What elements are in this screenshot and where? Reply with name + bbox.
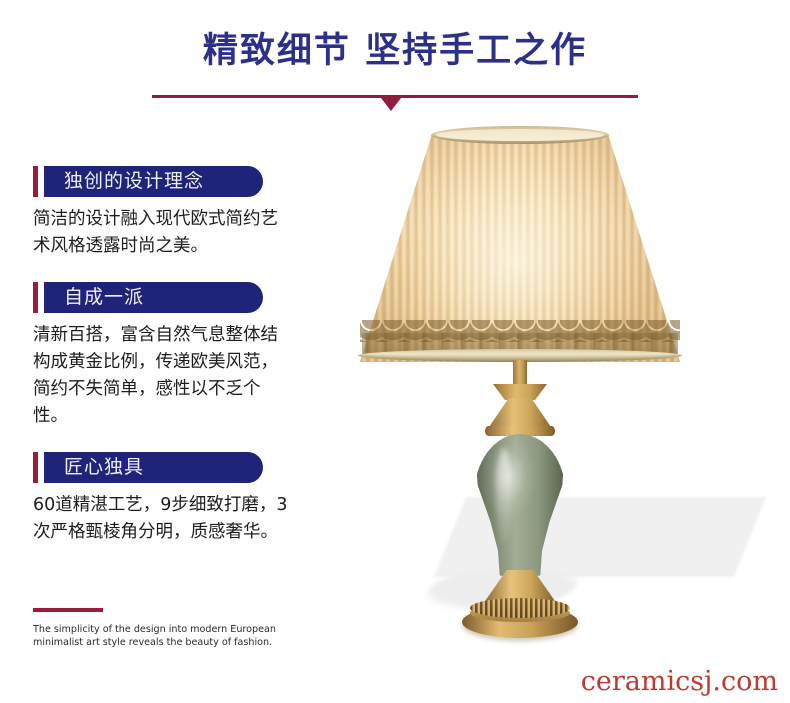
product-detail-page: 精致细节 坚持手工之作 独创的设计理念 简洁的设计融入现代欧式简约艺术风格透露时…	[0, 0, 790, 703]
feature-badge-label-1: 独创的设计理念	[64, 166, 204, 197]
down-arrow-icon	[381, 98, 401, 111]
footer-english-caption: The simplicity of the design into modern…	[33, 623, 323, 649]
lamp-ceramic-highlight	[496, 448, 512, 544]
feature-block-3: 匠心独具 60道精湛工艺，9步细致打磨，3次严格甄棱角分明，质感奢华。	[33, 452, 308, 546]
feature-badge-2: 自成一派	[33, 282, 263, 313]
badge-accent-bar	[33, 452, 38, 483]
feature-body-3: 60道精湛工艺，9步细致打磨，3次严格甄棱角分明，质感奢华。	[33, 492, 295, 546]
feature-badge-1: 独创的设计理念	[33, 166, 263, 197]
feature-block-1: 独创的设计理念 简洁的设计融入现代欧式简约艺术风格透露时尚之美。	[33, 166, 308, 260]
lamp-shade-top-opening	[436, 129, 604, 141]
feature-body-2: 清新百搭，富含自然气息整体结构成黄金比例，传递欧美风范，简约不失简单，感性以不乏…	[33, 322, 295, 430]
lamp-shade	[360, 126, 680, 362]
lamp-shade-scallop-pattern	[360, 320, 680, 342]
feature-list: 独创的设计理念 简洁的设计融入现代欧式简约艺术风格透露时尚之美。 自成一派 清新…	[33, 166, 308, 568]
feature-badge-label-3: 匠心独具	[64, 452, 144, 483]
lamp-drop-shadow	[434, 497, 766, 577]
badge-accent-bar	[33, 166, 38, 197]
feature-block-2: 自成一派 清新百搭，富含自然气息整体结构成黄金比例，传递欧美风范，简约不失简单，…	[33, 282, 308, 430]
lamp-base-fluted-ring	[470, 598, 570, 618]
site-watermark: ceramicsj.com	[581, 666, 778, 697]
badge-accent-bar	[33, 282, 38, 313]
feature-badge-3: 匠心独具	[33, 452, 263, 483]
feature-body-1: 简洁的设计融入现代欧式简约艺术风格透露时尚之美。	[33, 206, 295, 260]
feature-badge-label-2: 自成一派	[64, 282, 144, 313]
product-image-table-lamp	[330, 112, 750, 652]
lamp-neck-spool	[493, 384, 547, 400]
page-title: 精致细节 坚持手工之作	[0, 22, 790, 73]
lamp-neck-stem	[513, 360, 527, 388]
footer-divider-rule	[33, 608, 103, 612]
